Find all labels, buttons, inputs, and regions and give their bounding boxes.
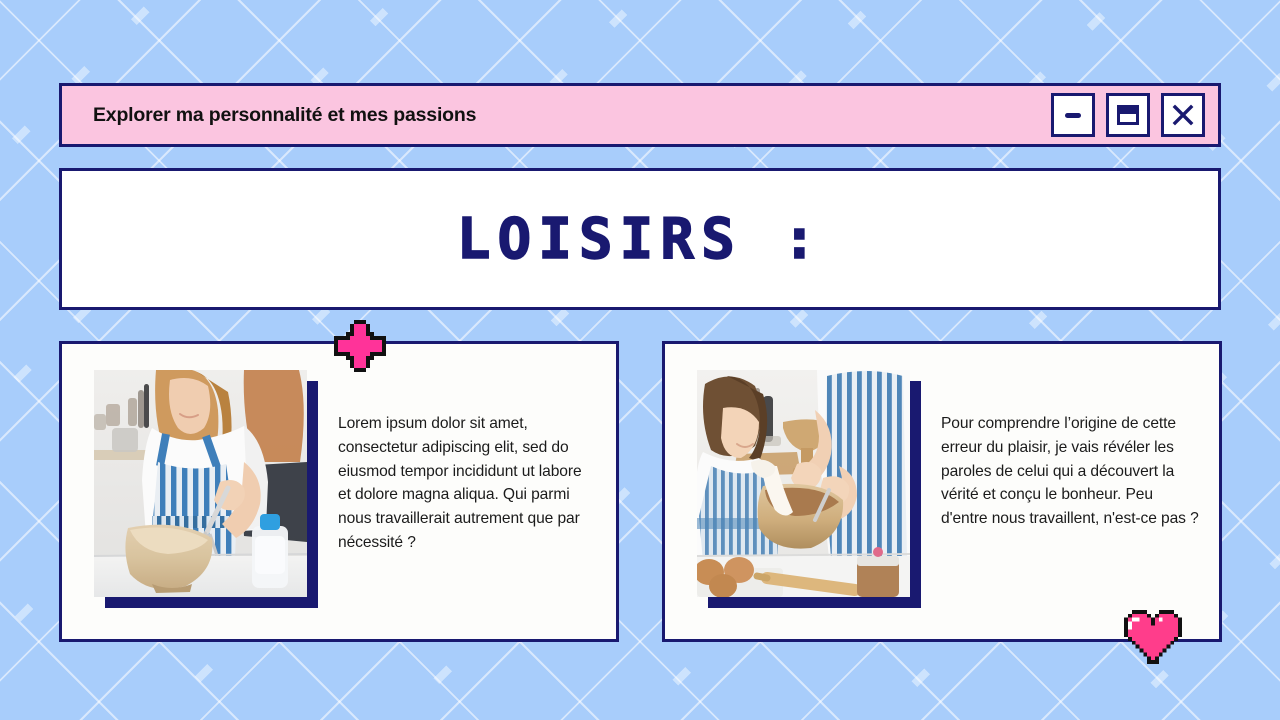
photo-right (697, 370, 910, 597)
heart-icon (1124, 610, 1182, 664)
minimize-icon (1062, 104, 1084, 126)
photo-left (94, 370, 307, 597)
photo-frame-right (697, 370, 910, 597)
minimize-button[interactable] (1051, 93, 1095, 137)
card-right-text: Pour comprendre l’origine de cette erreu… (941, 412, 1201, 531)
window-titlebar: Explorer ma personnalité et mes passions (59, 83, 1221, 147)
close-button[interactable] (1161, 93, 1205, 137)
close-icon (1171, 103, 1195, 127)
sparkle-icon (334, 320, 386, 372)
window-controls (1051, 93, 1205, 137)
maximize-icon (1116, 103, 1140, 127)
photo-frame-left (94, 370, 307, 597)
heading-panel: LOISIRS : (59, 168, 1221, 310)
card-left-text: Lorem ipsum dolor sit amet, consectetur … (338, 412, 598, 555)
window-title: Explorer ma personnalité et mes passions (93, 104, 476, 127)
content-card-right: Pour comprendre l’origine de cette erreu… (662, 341, 1222, 642)
content-card-left: Lorem ipsum dolor sit amet, consectetur … (59, 341, 619, 642)
page-title: LOISIRS : (457, 207, 823, 272)
maximize-button[interactable] (1106, 93, 1150, 137)
